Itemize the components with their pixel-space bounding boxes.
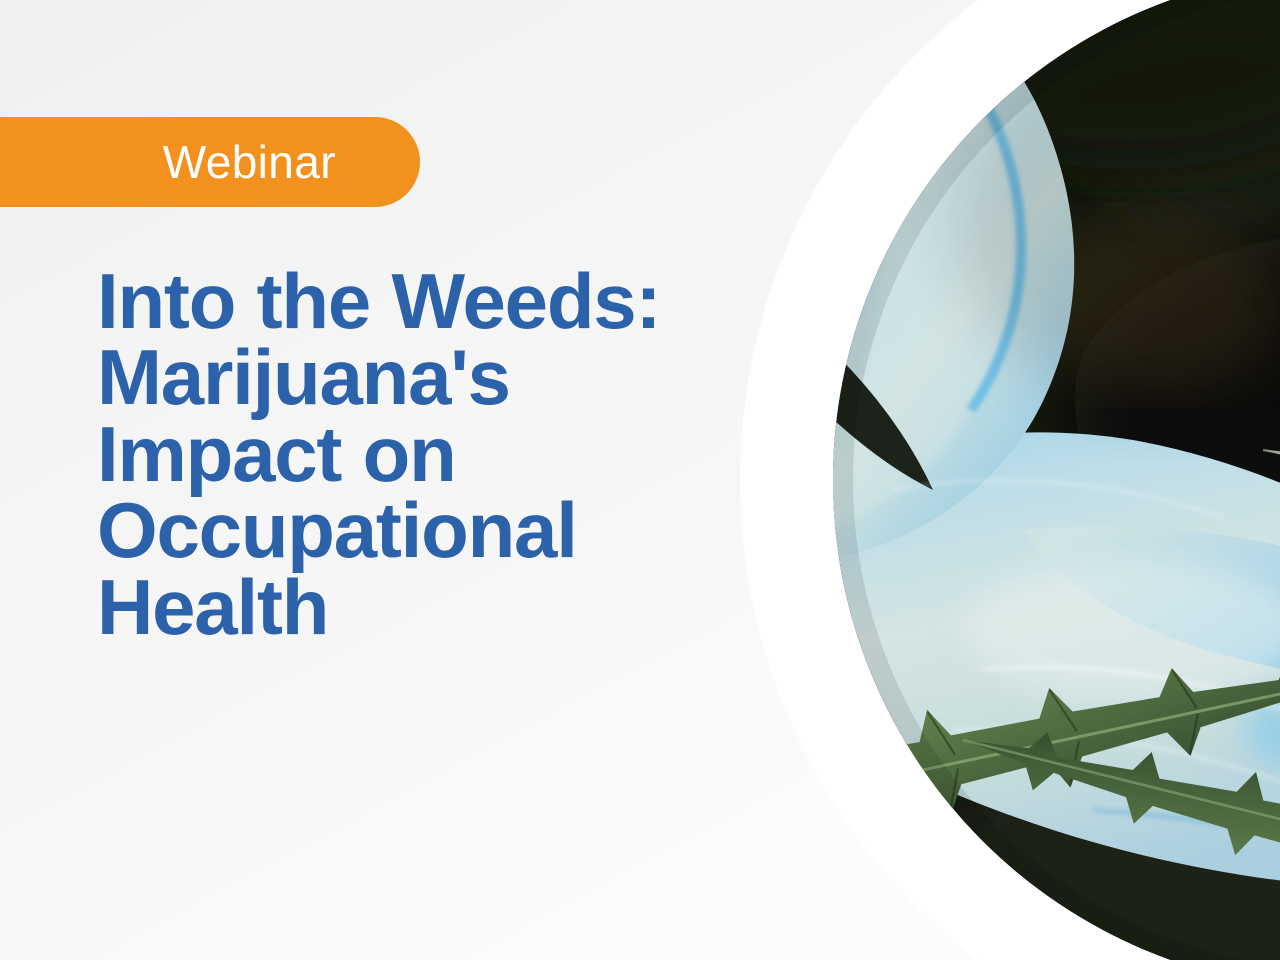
cannabis-leaf-photo: [740, 0, 1280, 960]
webinar-title-slide: Webinar Into the Weeds: Marijuana's Impa…: [0, 0, 1280, 960]
latex-glove: [833, 0, 1280, 889]
photo-white-ring: [740, 0, 1280, 960]
cannabis-photo-illustration: [833, 0, 1280, 960]
cannabis-leaves: [848, 18, 1280, 960]
page-title: Into the Weeds: Marijuana's Impact on Oc…: [97, 263, 697, 645]
webinar-badge-label: Webinar: [163, 139, 336, 185]
webinar-badge: Webinar: [0, 117, 420, 207]
photo-image-disc: [833, 0, 1280, 960]
